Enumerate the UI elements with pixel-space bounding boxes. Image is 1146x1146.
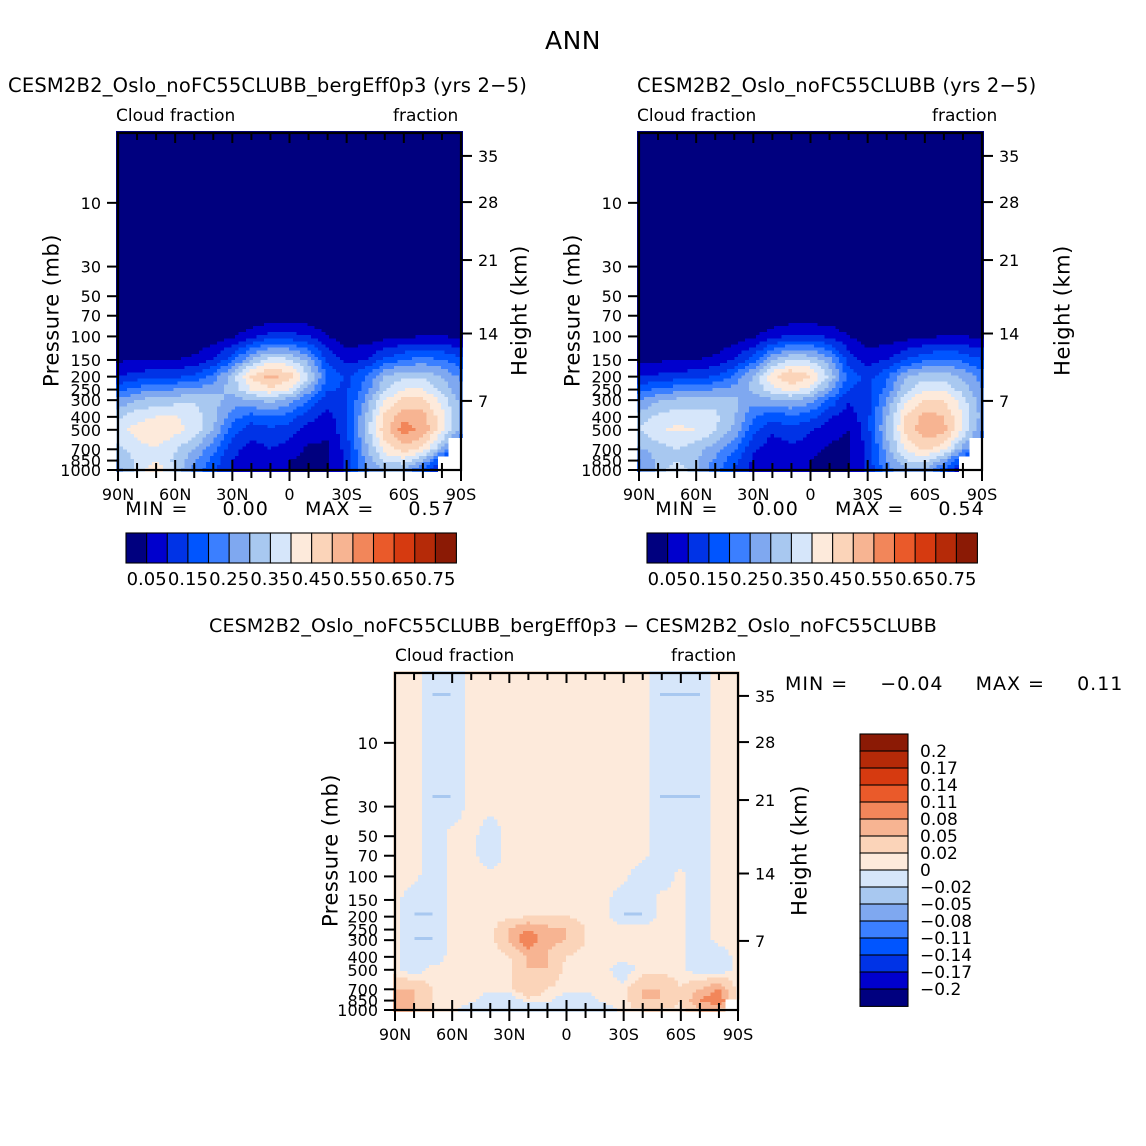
panel-difference-minmax: MIN = −0.04 MAX = 0.11 bbox=[785, 675, 1123, 694]
colorbar-cell[interactable] bbox=[250, 533, 271, 563]
minmax-max-value: 0.11 bbox=[1077, 673, 1123, 695]
contour-field bbox=[393, 671, 740, 1012]
pressure-tick-label: 100 bbox=[347, 867, 378, 886]
minmax-max-label: MAX = bbox=[976, 673, 1045, 695]
lat-tick-label: 60N bbox=[436, 1025, 468, 1044]
pressure-tick-label: 10 bbox=[358, 734, 378, 753]
colorbar-tick-label: 0.75 bbox=[936, 569, 976, 590]
colorbar-cell[interactable] bbox=[860, 955, 908, 972]
panel-top-left-colorbar[interactable]: 0.050.150.250.350.450.550.650.75 bbox=[0, 0, 600, 600]
lat-tick-label: 90S bbox=[723, 1025, 754, 1044]
colorbar-cell[interactable] bbox=[860, 989, 908, 1006]
lat-tick-label: 0 bbox=[561, 1025, 571, 1044]
colorbar-cell[interactable] bbox=[860, 819, 908, 836]
panel-difference-colorbar[interactable]: 0.20.170.140.110.080.050.020−0.02−0.05−0… bbox=[820, 720, 1040, 1020]
colorbar-cell[interactable] bbox=[860, 870, 908, 887]
pressure-tick-label: 30 bbox=[358, 798, 378, 817]
colorbar-cell[interactable] bbox=[126, 533, 147, 563]
colorbar-cell[interactable] bbox=[956, 533, 977, 563]
lat-tick-label: 30S bbox=[608, 1025, 639, 1044]
colorbar-difference[interactable]: 0.20.170.140.110.080.050.020−0.02−0.05−0… bbox=[860, 734, 972, 1006]
colorbar-cell[interactable] bbox=[860, 938, 908, 955]
height-tick-label: 21 bbox=[755, 791, 775, 810]
panel-difference-pressure-axis-label: Pressure (mb) bbox=[321, 771, 342, 931]
colorbar-cell[interactable] bbox=[147, 533, 168, 563]
colorbar-tick-label: 0.15 bbox=[168, 569, 208, 590]
colorbar-cell[interactable] bbox=[167, 533, 188, 563]
colorbar-cell[interactable] bbox=[860, 921, 908, 938]
colorbar-cell[interactable] bbox=[915, 533, 936, 563]
height-tick-label: 7 bbox=[755, 932, 765, 951]
minmax-min-label: MIN = bbox=[785, 673, 848, 695]
colorbar-tick-label: 0.65 bbox=[895, 569, 935, 590]
colorbar-cell[interactable] bbox=[860, 904, 908, 921]
panel-difference-height-axis-label: Height (km) bbox=[790, 771, 811, 931]
colorbar-cell[interactable] bbox=[860, 802, 908, 819]
colorbar-tick-label: 0.25 bbox=[209, 569, 249, 590]
minmax-min-value: −0.04 bbox=[880, 673, 943, 695]
height-tick-label: 28 bbox=[755, 733, 775, 752]
pressure-tick-label: 1000 bbox=[337, 1001, 378, 1020]
colorbar-cell[interactable] bbox=[860, 751, 908, 768]
colorbar-cell[interactable] bbox=[229, 533, 250, 563]
pressure-tick-label: 500 bbox=[347, 961, 378, 980]
colorbar-tick-label: −0.2 bbox=[920, 980, 961, 1000]
colorbar-tick-label: 0.05 bbox=[127, 569, 167, 590]
colorbar-cell[interactable] bbox=[860, 785, 908, 802]
lat-tick-label: 60S bbox=[666, 1025, 697, 1044]
colorbar-cell[interactable] bbox=[860, 768, 908, 785]
colorbar-cell[interactable] bbox=[860, 836, 908, 853]
height-tick-label: 14 bbox=[755, 865, 775, 884]
colorbar-cell[interactable] bbox=[209, 533, 230, 563]
pressure-tick-label: 50 bbox=[358, 827, 378, 846]
lat-tick-label: 90N bbox=[379, 1025, 411, 1044]
pressure-tick-label: 70 bbox=[358, 847, 378, 866]
lat-tick-label: 30N bbox=[493, 1025, 525, 1044]
colorbar-cell[interactable] bbox=[936, 533, 957, 563]
colorbar-cell[interactable] bbox=[860, 887, 908, 904]
colorbar-cell[interactable] bbox=[860, 734, 908, 751]
colorbar-cell[interactable] bbox=[860, 972, 908, 989]
colorbar-cell[interactable] bbox=[860, 853, 908, 870]
colorbar-cell[interactable] bbox=[188, 533, 209, 563]
panel-top-right-colorbar[interactable]: 0.050.150.250.350.450.550.650.75 bbox=[521, 0, 1146, 600]
height-tick-label: 35 bbox=[755, 687, 775, 706]
